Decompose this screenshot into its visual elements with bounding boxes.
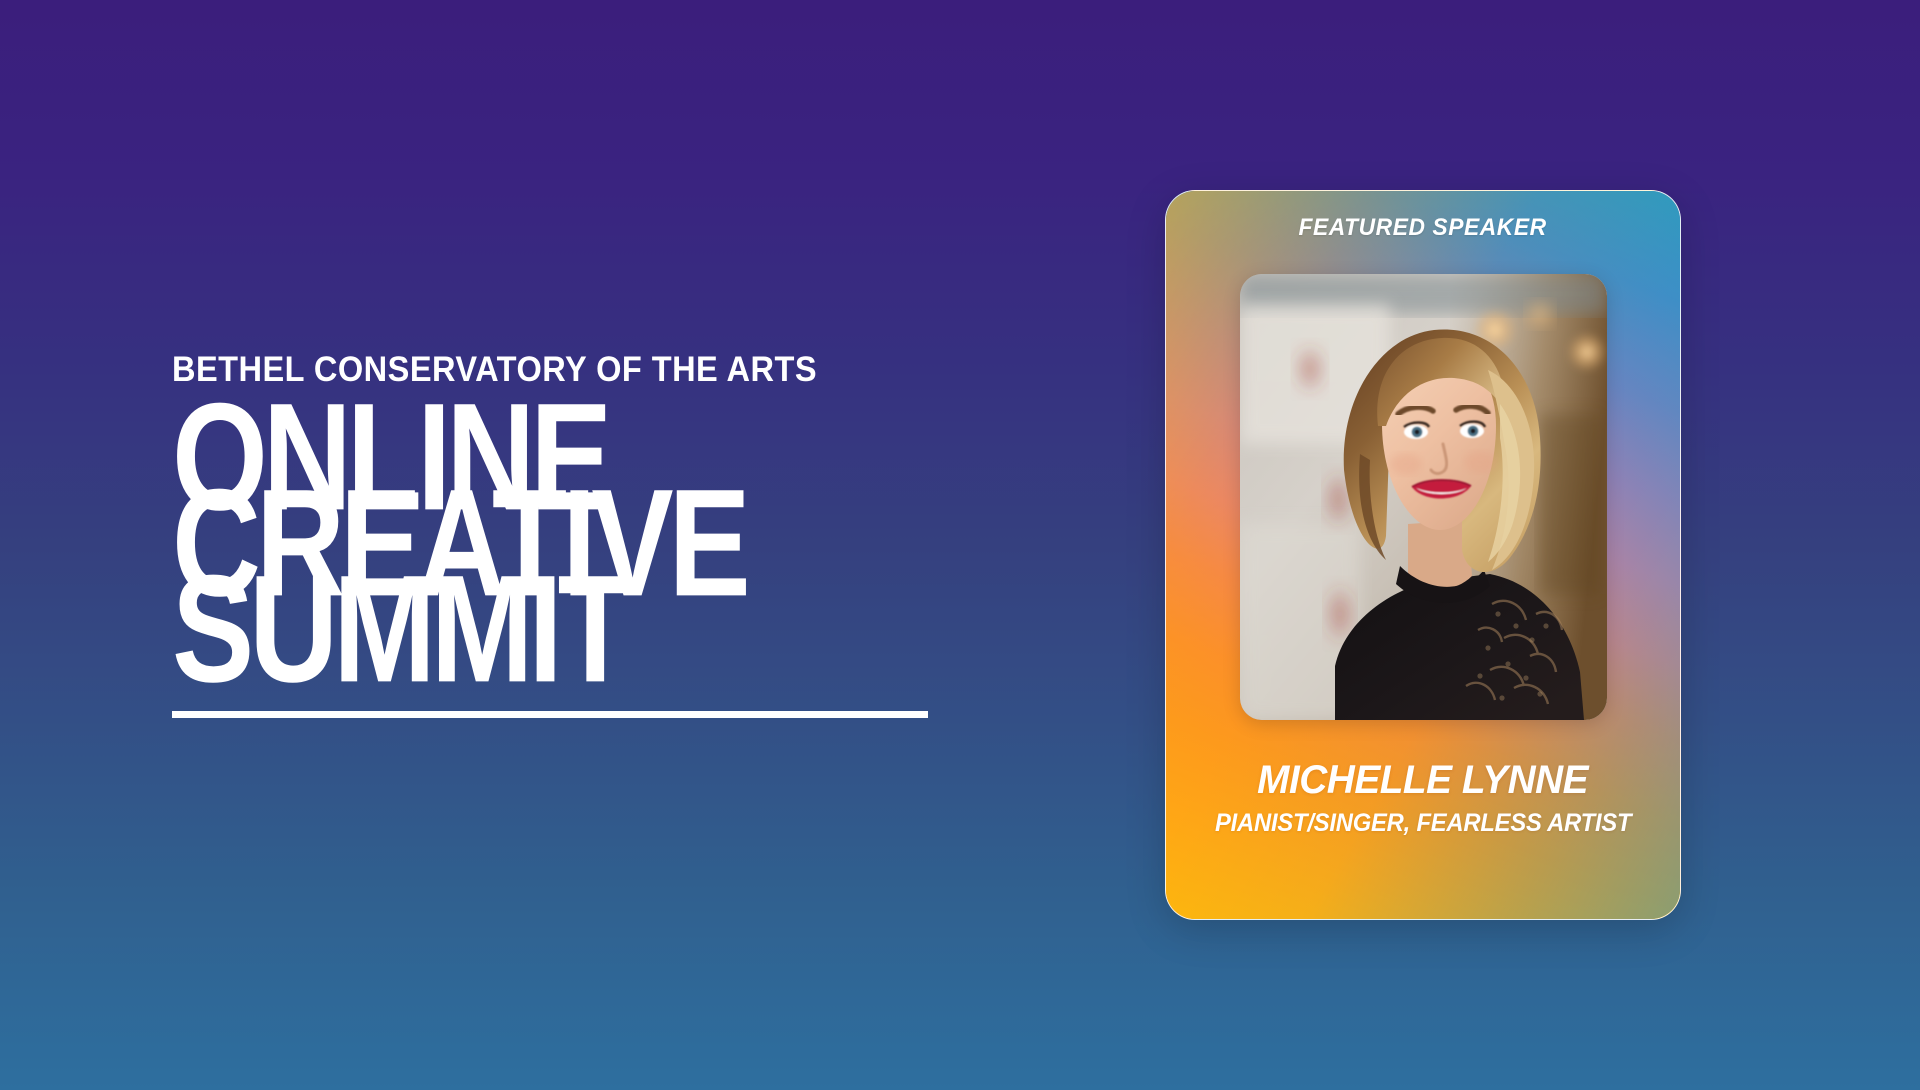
- speaker-photo: [1240, 274, 1607, 720]
- speaker-role: PIANIST/SINGER, FEARLESS ARTIST: [1215, 809, 1631, 838]
- speaker-name: MICHELLE LYNNE: [1258, 758, 1589, 803]
- featured-speaker-card: FEATURED SPEAKER: [1165, 190, 1681, 920]
- featured-speaker-label: FEATURED SPEAKER: [1299, 214, 1547, 242]
- headline-line-3: SUMMIT: [172, 581, 926, 679]
- card-content: FEATURED SPEAKER: [1166, 191, 1680, 919]
- hero-headline: ONLINE CREATIVE SUMMIT: [172, 409, 992, 667]
- hero-text-block: BETHEL CONSERVATORY OF THE ARTS ONLINE C…: [172, 352, 992, 718]
